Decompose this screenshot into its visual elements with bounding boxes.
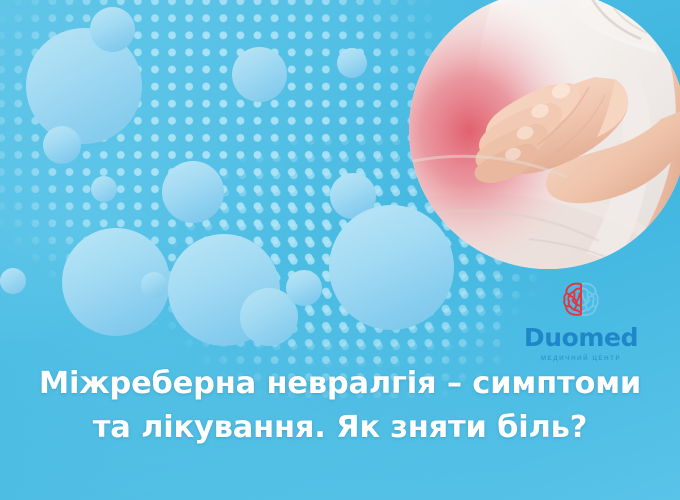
bubble	[286, 270, 322, 306]
headline-line-1: Міжреберна невралгія – симптоми	[12, 362, 668, 406]
logo-tagline: МЕДИЧНИЙ ЦЕНТР	[520, 355, 642, 362]
bubble	[162, 161, 224, 223]
bubble	[141, 272, 167, 298]
logo-wordmark: Duomed	[520, 325, 642, 350]
bubble	[329, 205, 454, 330]
bubble	[337, 48, 367, 78]
bubble	[232, 47, 287, 102]
hero-photo	[409, 0, 680, 269]
headline: Міжреберна невралгія – симптоми та лікув…	[0, 362, 680, 450]
bubble	[90, 7, 135, 52]
logo[interactable]: Duomed МЕДИЧНИЙ ЦЕНТР	[520, 280, 642, 362]
hero-photo-illustration	[409, 0, 680, 269]
headline-line-2: та лікування. Як зняти біль?	[12, 406, 668, 450]
promo-banner: Duomed МЕДИЧНИЙ ЦЕНТР Міжреберна невралг…	[0, 0, 680, 500]
bubble	[91, 176, 117, 202]
brain-icon	[560, 280, 602, 322]
bubble	[43, 126, 81, 164]
bubble	[0, 268, 26, 294]
